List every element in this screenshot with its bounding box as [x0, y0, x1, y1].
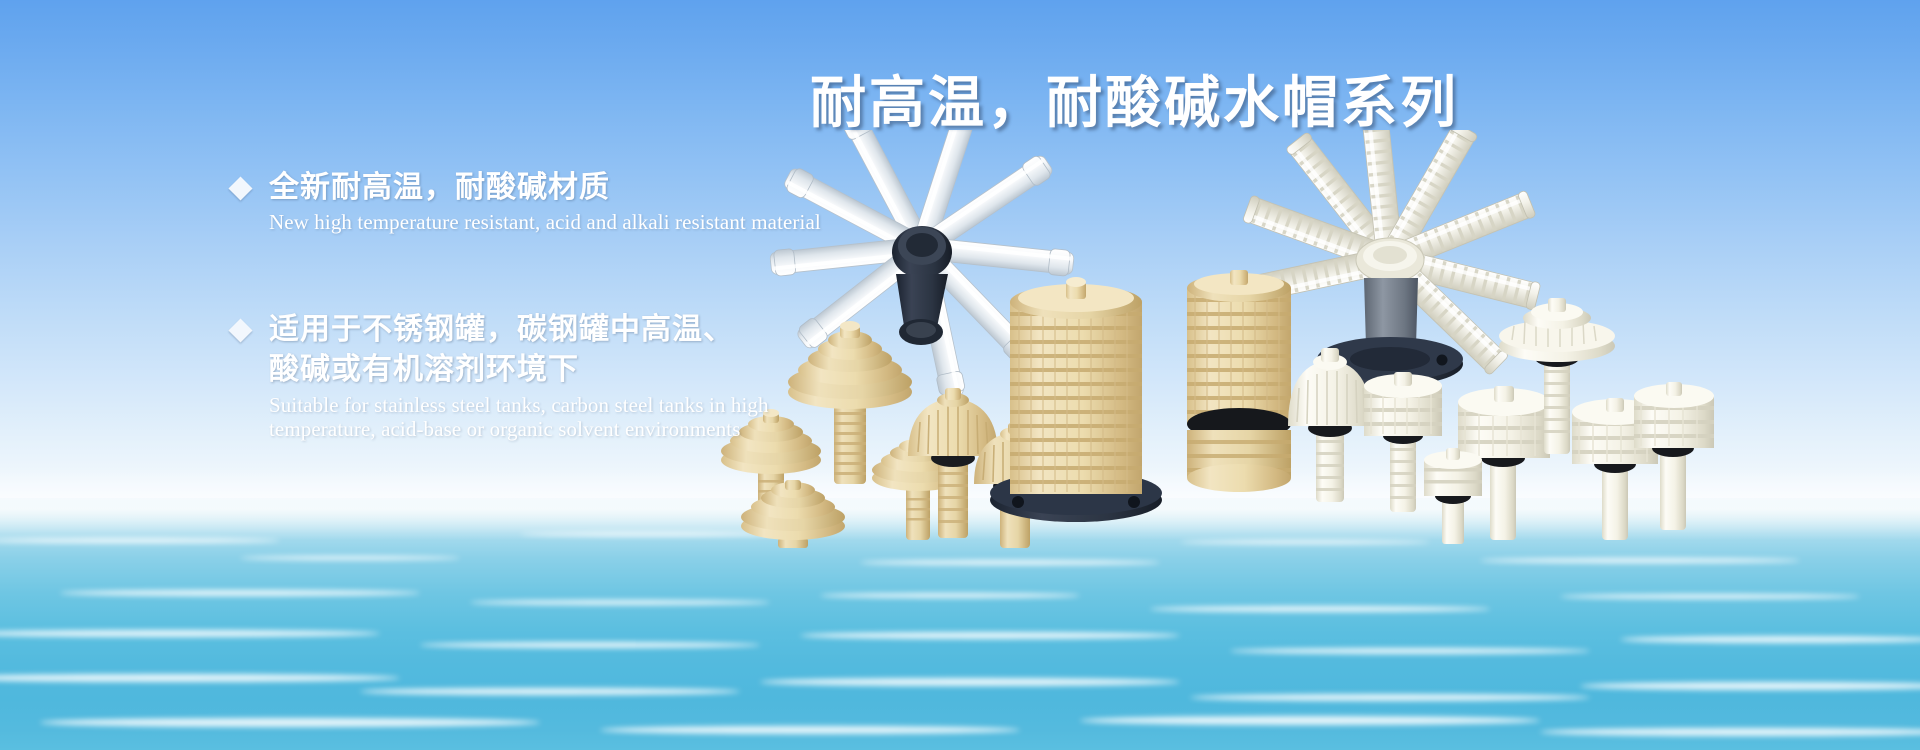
banner-headline: 耐高温，耐酸碱水帽系列	[810, 58, 1370, 139]
beige-stack-strainer-small	[1187, 270, 1291, 492]
product-cluster-image	[700, 130, 1920, 550]
promo-banner: 耐高温，耐酸碱水帽系列 全新耐高温，耐酸碱材质 New high tempera…	[0, 0, 1920, 750]
bullet-1-row: 全新耐高温，耐酸碱材质	[232, 168, 821, 208]
bullet-1-en-text: New high temperature resistant, acid and…	[269, 210, 821, 234]
feature-bullet-2: 适用于不锈钢罐，碳钢罐中高温、 酸碱或有机溶剂环境下 Suitable for …	[232, 310, 769, 442]
beige-stack-strainer-large	[990, 277, 1162, 522]
beige-pagoda-nozzle-4	[741, 480, 845, 548]
bullet-1-cn-text: 全新耐高温，耐酸碱材质	[269, 168, 610, 208]
bullet-2-en-text: Suitable for stainless steel tanks, carb…	[269, 393, 769, 442]
feature-bullet-1: 全新耐高温，耐酸碱材质 New high temperature resista…	[232, 168, 821, 234]
bullet-2-cn-text: 适用于不锈钢罐，碳钢罐中高温、 酸碱或有机溶剂环境下	[269, 310, 734, 390]
diamond-marker-icon	[228, 176, 252, 200]
diamond-marker-icon	[228, 318, 252, 342]
bullet-2-row: 适用于不锈钢罐，碳钢罐中高温、 酸碱或有机溶剂环境下	[232, 310, 769, 390]
cream-small-foreground-nozzle	[1424, 448, 1482, 544]
